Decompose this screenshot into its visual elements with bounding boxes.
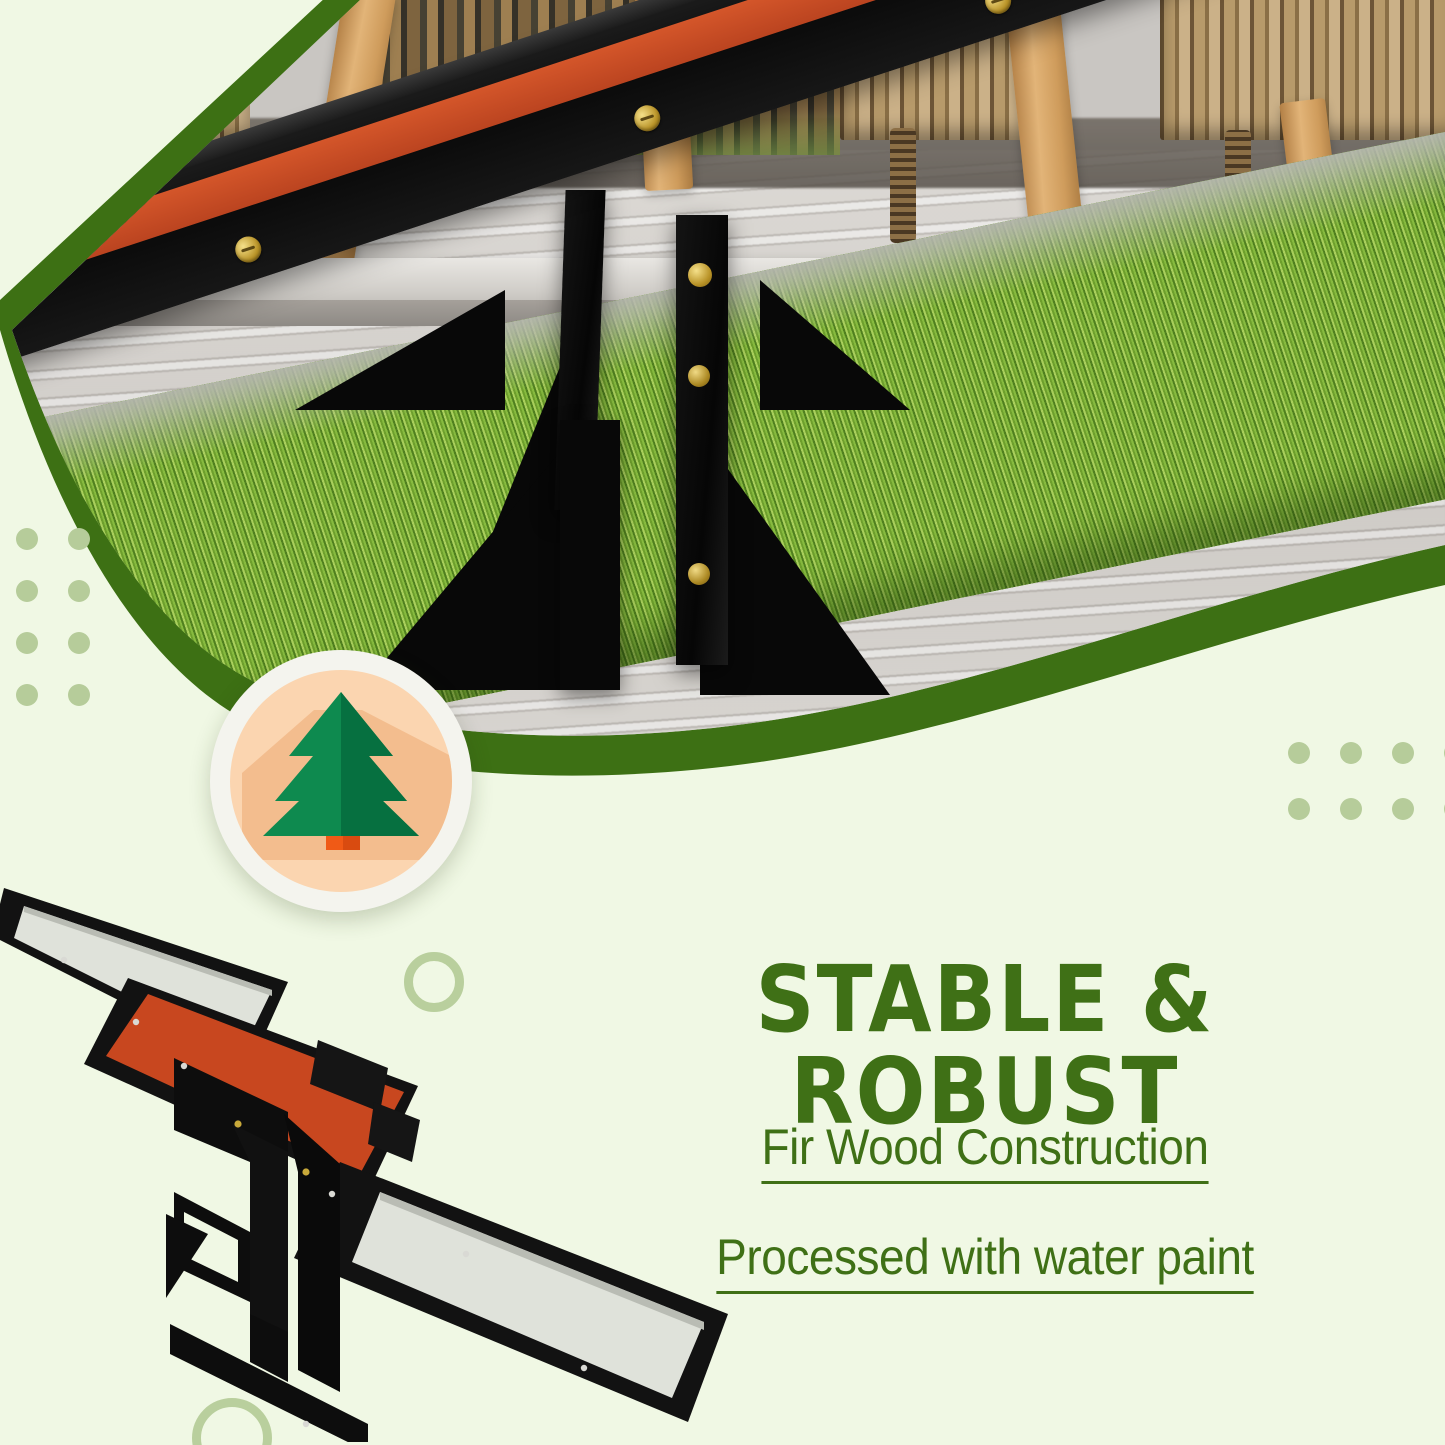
screw-icon <box>688 563 710 585</box>
dot <box>16 528 38 550</box>
dot <box>68 632 90 654</box>
seesaw-brace <box>560 420 620 690</box>
dot <box>1392 798 1414 820</box>
dot <box>68 684 90 706</box>
fir-tree-icon <box>230 670 452 892</box>
dot-grid-left <box>16 528 120 736</box>
dot <box>1340 742 1362 764</box>
dot <box>1392 742 1414 764</box>
feature-line-1: Fir Wood Construction <box>594 1118 1376 1184</box>
dot-grid-right <box>1288 742 1445 854</box>
dot <box>16 580 38 602</box>
feature-line-1-text: Fir Wood Construction <box>761 1118 1208 1184</box>
dot <box>1288 798 1310 820</box>
feature-line-2-text: Processed with water paint <box>716 1228 1254 1294</box>
seesaw-post <box>676 215 728 665</box>
dot <box>16 684 38 706</box>
dot <box>68 528 90 550</box>
dot <box>1340 798 1362 820</box>
screw-icon <box>688 263 712 287</box>
rattan-leg <box>890 128 916 243</box>
dot <box>68 580 90 602</box>
product-feature-poster: STABLE & ROBUST Fir Wood Construction Pr… <box>0 0 1445 1445</box>
dot <box>1288 742 1310 764</box>
feature-line-2: Processed with water paint <box>594 1228 1376 1294</box>
page-title: STABLE & ROBUST <box>560 955 1410 1139</box>
dot <box>16 632 38 654</box>
screw-icon <box>688 365 710 387</box>
